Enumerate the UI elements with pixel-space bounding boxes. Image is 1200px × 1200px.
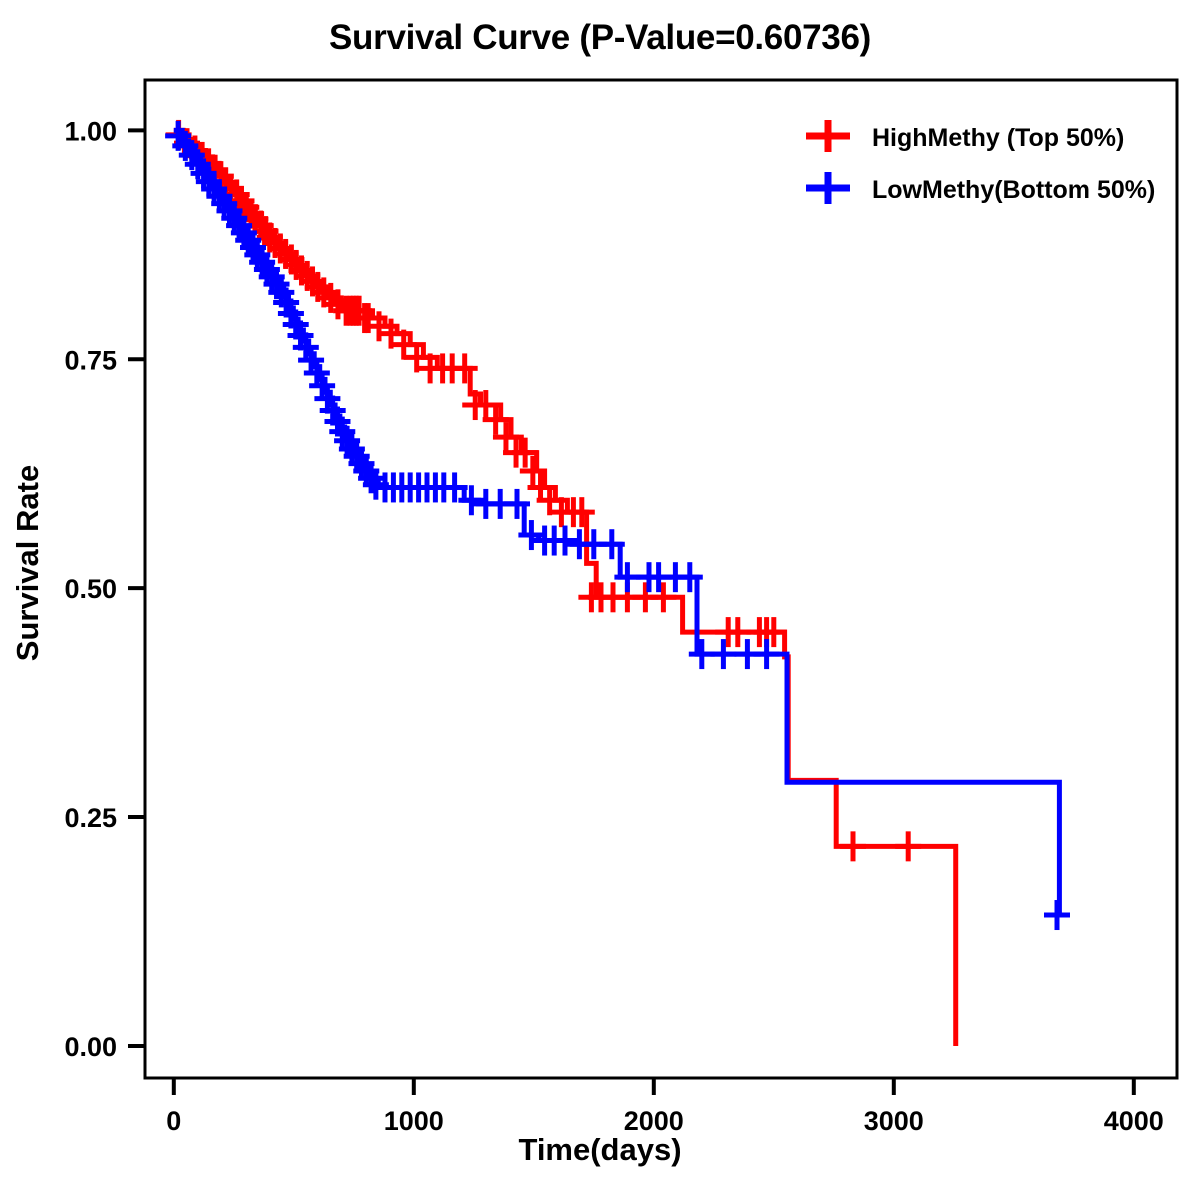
y-tick-label: 0.50 (64, 574, 117, 604)
x-axis-ticks: 01000200030004000 (166, 1078, 1164, 1136)
y-tick-label: 1.00 (64, 116, 117, 146)
censor-marks (165, 121, 1070, 930)
y-tick-label: 0.75 (64, 345, 117, 375)
series-high-methy (166, 120, 956, 1046)
survival-step-line (174, 130, 1060, 915)
legend-label: HighMethy (Top 50%) (872, 124, 1124, 152)
x-tick-label: 4000 (1104, 1106, 1164, 1136)
legend-label: LowMethy(Bottom 50%) (872, 176, 1155, 204)
censor-marks (166, 120, 922, 861)
plot-area: 01000200030004000 0.000.250.500.751.00 H… (0, 0, 1200, 1200)
legend-item[interactable]: HighMethy (Top 50%) (806, 120, 1124, 152)
series-low-methy (165, 121, 1070, 930)
legend-item[interactable]: LowMethy(Bottom 50%) (806, 172, 1155, 204)
survival-curve-figure: Survival Curve (P-Value=0.60736) Surviva… (0, 0, 1200, 1200)
series-layer (165, 120, 1070, 1046)
y-tick-label: 0.25 (64, 803, 117, 833)
y-axis-ticks: 0.000.250.500.751.00 (64, 116, 145, 1062)
y-tick-label: 0.00 (64, 1032, 117, 1062)
x-tick-label: 2000 (624, 1106, 684, 1136)
x-tick-label: 0 (166, 1106, 181, 1136)
x-tick-label: 1000 (384, 1106, 444, 1136)
x-tick-label: 3000 (864, 1106, 924, 1136)
chart-legend: HighMethy (Top 50%)LowMethy(Bottom 50%) (806, 120, 1155, 204)
